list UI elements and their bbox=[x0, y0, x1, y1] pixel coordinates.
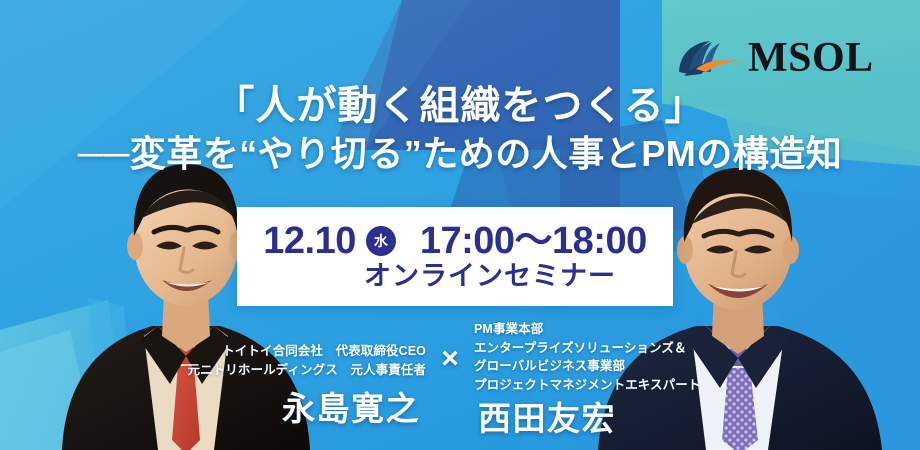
seminar-format: オンラインセミナー bbox=[364, 263, 616, 290]
day-of-week-badge: 水 bbox=[366, 226, 396, 256]
msol-wave-logo-icon bbox=[676, 36, 742, 80]
seminar-banner: MSOL 「人が動く組織をつくる」 ──変革を“やり切る”ための人事とPMの構造… bbox=[0, 0, 920, 450]
seminar-date: 12.10 bbox=[263, 222, 356, 260]
msol-logo: MSOL bbox=[676, 36, 874, 80]
schedule-panel: 12.10 水 17:00〜18:00 オンラインセミナー bbox=[237, 207, 673, 306]
msol-logo-text: MSOL bbox=[748, 37, 874, 79]
schedule-row: 12.10 水 17:00〜18:00 bbox=[263, 222, 646, 260]
seminar-time: 17:00〜18:00 bbox=[420, 222, 647, 260]
